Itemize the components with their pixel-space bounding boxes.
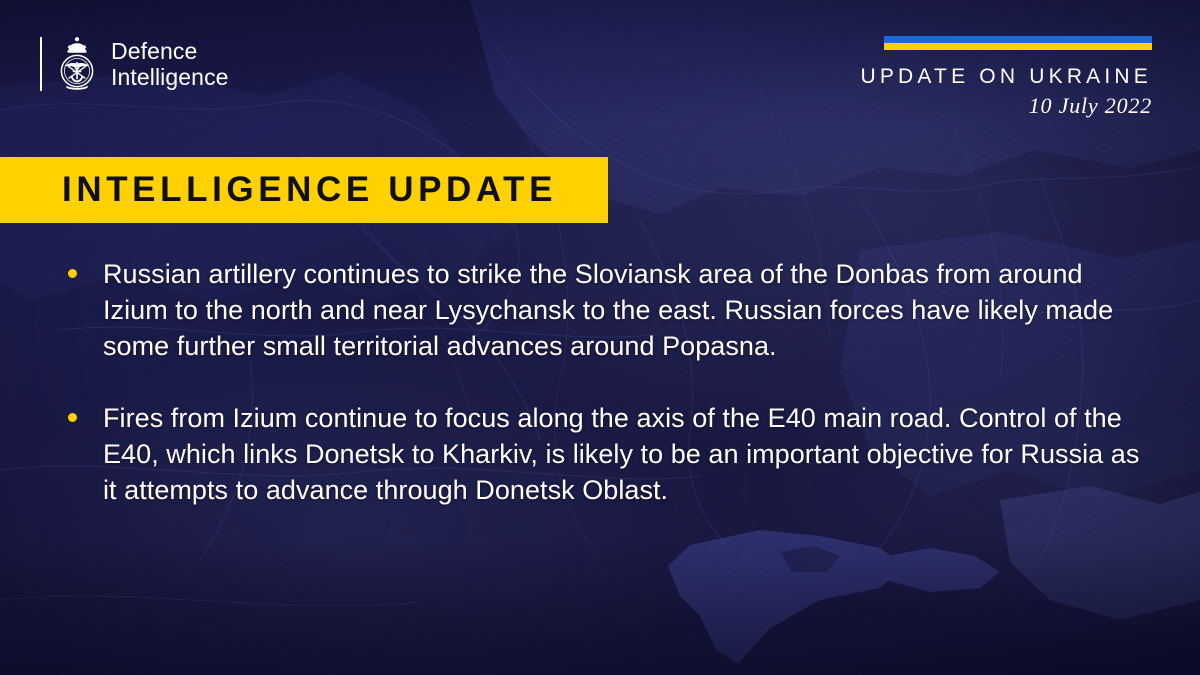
update-date: 10 July 2022 bbox=[732, 93, 1152, 119]
brand-lockup: Defence Intelligence bbox=[40, 34, 229, 94]
banner-title: INTELLIGENCE UPDATE bbox=[62, 170, 557, 210]
brand-line-defence: Defence bbox=[111, 38, 229, 64]
bullet-text: Fires from Izium continue to focus along… bbox=[103, 403, 1139, 505]
bullet-dot-icon bbox=[68, 269, 77, 278]
header-right-block: UPDATE ON UKRAINE 10 July 2022 bbox=[732, 36, 1152, 119]
update-kicker: UPDATE ON UKRAINE bbox=[732, 65, 1152, 89]
ukraine-flag-bar-icon bbox=[884, 36, 1152, 50]
bullet-list: Russian artillery continues to strike th… bbox=[62, 256, 1152, 508]
royal-crest-icon bbox=[54, 35, 100, 93]
brand-wordmark: Defence Intelligence bbox=[111, 38, 229, 90]
bullet-item: Russian artillery continues to strike th… bbox=[62, 256, 1152, 364]
brand-divider-rule bbox=[40, 37, 42, 91]
bullet-dot-icon bbox=[68, 413, 77, 422]
brand-line-intelligence: Intelligence bbox=[111, 64, 229, 90]
intelligence-update-banner: INTELLIGENCE UPDATE bbox=[0, 157, 608, 223]
bullet-item: Fires from Izium continue to focus along… bbox=[62, 400, 1152, 508]
bullet-text: Russian artillery continues to strike th… bbox=[103, 259, 1113, 361]
intelligence-update-poster: Defence Intelligence UPDATE ON UKRAINE 1… bbox=[0, 0, 1200, 675]
